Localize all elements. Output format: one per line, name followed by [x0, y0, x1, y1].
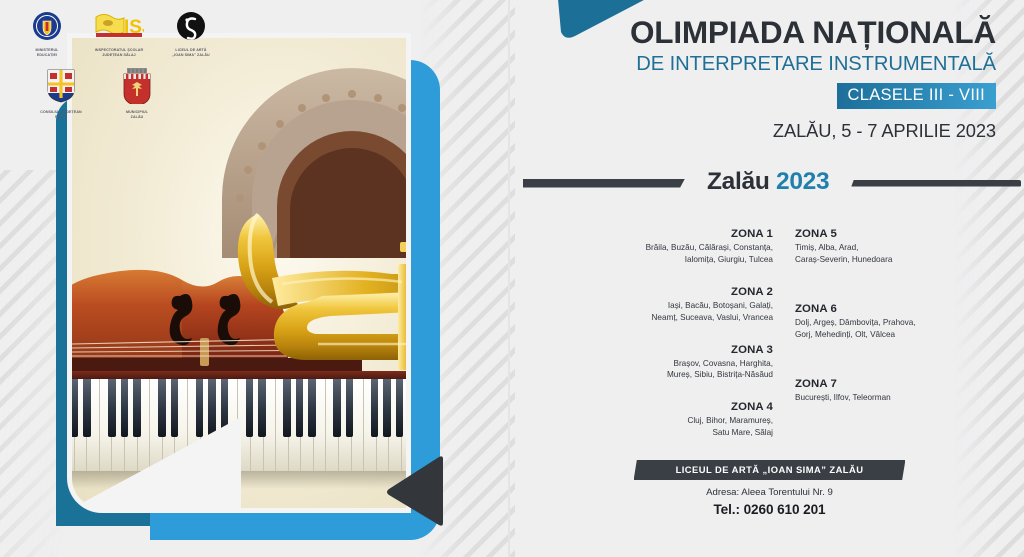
zone-counties: Timiș, Alba, Arad,Caraș-Severin, Hunedoa… — [795, 242, 995, 266]
municipiul-zalau-logo: MUNICIPIULZALĂU — [108, 64, 166, 120]
trumpet-icon — [212, 208, 406, 398]
section-heading: Zalău 2023 — [685, 168, 851, 196]
piano-black-key — [246, 379, 254, 437]
poster-title-block: OLIMPIADA NAȚIONALĂ DE INTERPRETARE INST… — [630, 16, 996, 142]
left-illustration-panel: MINISTERULEDUCAȚIEI ISJ INSPECTORATUL ȘC… — [0, 0, 515, 557]
piano-black-key — [72, 379, 78, 437]
isj-salaj-logo: ISJ INSPECTORATUL ȘCOLARJUDEȚEAN SĂLAJ — [90, 6, 148, 58]
logo-caption: MINISTERULEDUCAȚIEI — [18, 48, 76, 58]
zone-counties: Dolj, Argeș, Dâmbovița, Prahova,Gorj, Me… — [795, 317, 995, 341]
piano-black-key — [83, 379, 91, 437]
zone-name: ZONA 2 — [555, 286, 773, 298]
organizer-banner: LICEUL DE ARTĂ „IOAN SIMA” ZALĂU — [634, 460, 906, 480]
art-school-seal-icon — [176, 11, 206, 41]
zone-counties: Brăila, Buzău, Călărași, Constanța,Ialom… — [555, 242, 773, 266]
piano-black-key — [296, 379, 304, 437]
zone-counties: Brașov, Covasna, Harghita,Mureș, Sibiu, … — [555, 358, 773, 382]
logo-caption: MUNICIPIULZALĂU — [108, 110, 166, 120]
isj-logo-icon: ISJ — [94, 11, 144, 41]
zone-name: ZONA 1 — [555, 228, 773, 240]
event-date: ZALĂU, 5 - 7 APRILIE 2023 — [630, 120, 996, 142]
piano-black-key — [383, 379, 391, 437]
poster-footer: LICEUL DE ARTĂ „IOAN SIMA” ZALĂU Adresa:… — [515, 460, 1024, 517]
section-year: 2023 — [776, 168, 829, 195]
zone-name: ZONA 4 — [555, 401, 773, 413]
ministry-seal-icon — [32, 11, 62, 41]
zones-column-right: ZONA 5Timiș, Alba, Arad,Caraș-Severin, H… — [795, 228, 995, 455]
consiliul-judetean-salaj-logo: CONSILIUL JUDEȚEANSĂLAJ — [32, 64, 90, 120]
zone-entry: ZONA 1Brăila, Buzău, Călărași, Constanța… — [555, 228, 773, 266]
zone-name: ZONA 6 — [795, 303, 995, 315]
zalau-coat-of-arms-icon — [123, 68, 151, 104]
zone-name: ZONA 7 — [795, 378, 995, 390]
piano-black-key — [396, 379, 404, 437]
piano-black-key — [196, 379, 204, 437]
zone-entry: ZONA 2Iași, Bacău, Botoșani, Galați,Neam… — [555, 286, 773, 324]
piano-keyboard-icon — [72, 371, 406, 491]
divider-bar-left — [523, 179, 685, 188]
organizer-address: Adresa: Aleea Torentului Nr. 9 — [515, 487, 1024, 498]
ministerul-educatiei-logo: MINISTERULEDUCAȚIEI — [18, 6, 76, 58]
zone-entry: ZONA 7București, Ilfov, Teleorman — [795, 378, 995, 404]
section-heading-row: Zalău 2023 — [523, 168, 1021, 196]
piano-black-key — [346, 379, 354, 437]
logo-caption: LICEUL DE ARTĂ„IOAN SIMA” ZALĂU — [162, 48, 220, 58]
piano-black-key — [221, 379, 229, 437]
zones-column-left: ZONA 1Brăila, Buzău, Călărași, Constanța… — [555, 228, 795, 455]
dark-arrow-shape — [385, 455, 445, 527]
zone-entry: ZONA 3Brașov, Covasna, Harghita,Mureș, S… — [555, 344, 773, 382]
right-content-panel: OLIMPIADA NAȚIONALĂ DE INTERPRETARE INST… — [515, 0, 1024, 557]
piano-black-key — [308, 379, 316, 437]
zone-entry: ZONA 4Cluj, Bihor, Maramureș,Satu Mare, … — [555, 401, 773, 439]
section-city: Zalău — [707, 168, 770, 195]
zone-counties: Cluj, Bihor, Maramureș,Satu Mare, Sălaj — [555, 415, 773, 439]
zone-name: ZONA 3 — [555, 344, 773, 356]
grades-badge: CLASELE III - VIII — [837, 83, 996, 109]
salaj-coat-of-arms-icon — [47, 69, 75, 103]
piano-black-key — [133, 379, 141, 437]
piano-black-key — [108, 379, 116, 437]
piano-black-key — [121, 379, 129, 437]
piano-black-key — [283, 379, 291, 437]
piano-black-key — [371, 379, 379, 437]
divider-bar-right — [851, 180, 1021, 187]
piano-black-key — [333, 379, 341, 437]
logo-caption: INSPECTORATUL ȘCOLARJUDEȚEAN SĂLAJ — [90, 48, 148, 58]
piano-black-key — [158, 379, 166, 437]
organizer-phone: Tel.: 0260 610 201 — [515, 502, 1024, 517]
piano-black-key — [171, 379, 179, 437]
zone-counties: Iași, Bacău, Botoșani, Galați,Neamț, Suc… — [555, 300, 773, 324]
zone-entry: ZONA 5Timiș, Alba, Arad,Caraș-Severin, H… — [795, 228, 995, 266]
logo-caption: CONSILIUL JUDEȚEANSĂLAJ — [32, 110, 90, 120]
zone-name: ZONA 5 — [795, 228, 995, 240]
piano-black-key — [208, 379, 216, 437]
page-subtitle: DE INTERPRETARE INSTRUMENTALĂ — [630, 53, 996, 77]
zone-entry: ZONA 6Dolj, Argeș, Dâmbovița, Prahova,Go… — [795, 303, 995, 341]
organizer-logos: MINISTERULEDUCAȚIEI ISJ INSPECTORATUL ȘC… — [18, 6, 233, 119]
page-title: OLIMPIADA NAȚIONALĂ — [630, 16, 996, 49]
zones-grid: ZONA 1Brăila, Buzău, Călărași, Constanța… — [555, 228, 995, 455]
zone-counties: București, Ilfov, Teleorman — [795, 392, 995, 404]
liceul-de-arta-logo: LICEUL DE ARTĂ„IOAN SIMA” ZALĂU — [162, 6, 220, 58]
piano-black-key — [258, 379, 266, 437]
